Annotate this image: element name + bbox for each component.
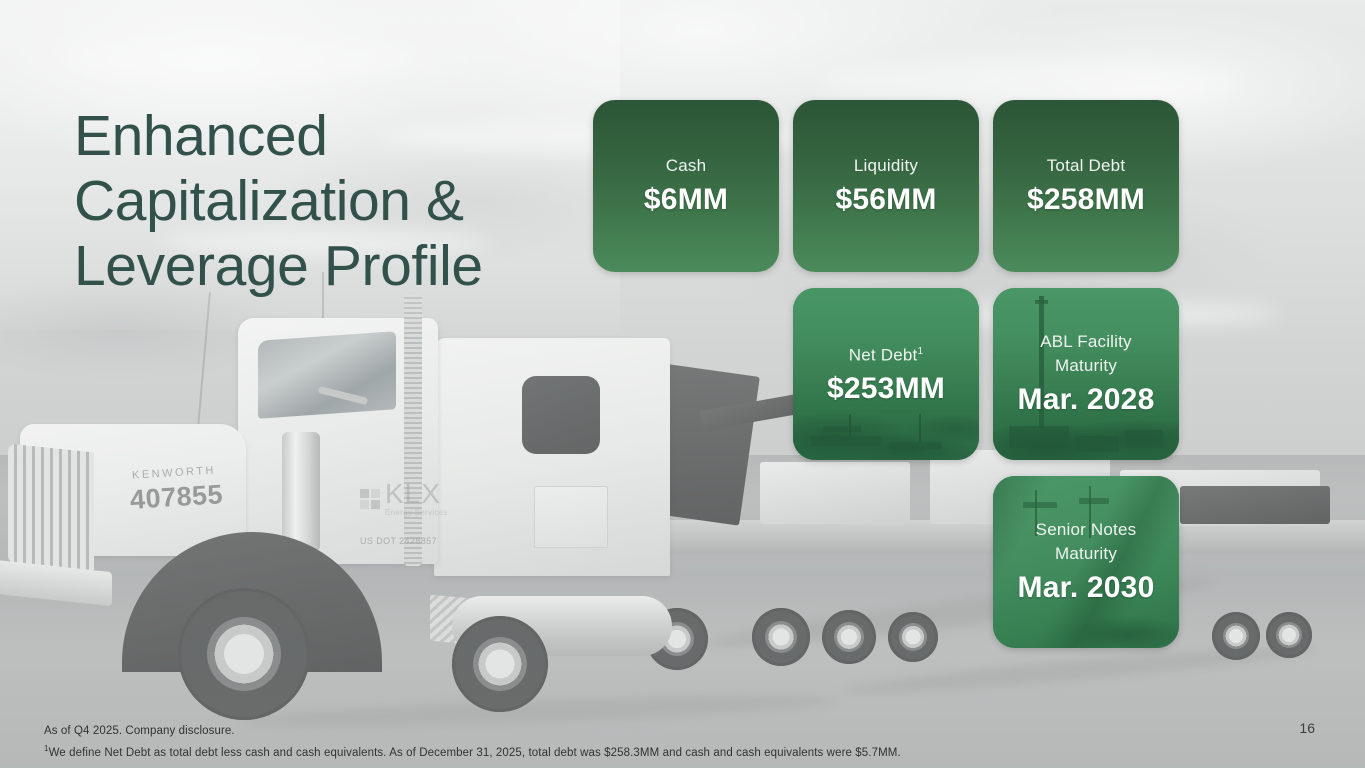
metric-value-cash: $6MM (644, 181, 728, 219)
trailer-equipment (1180, 486, 1330, 524)
metric-value-total-debt: $258MM (1027, 181, 1145, 219)
truck-rear-wheel (452, 616, 548, 712)
air-cleaner (282, 432, 320, 552)
metric-label-abl-facility: ABL Facility Maturity (1040, 330, 1132, 378)
cloud-streak (60, 40, 420, 80)
metric-value-abl-facility: Mar. 2028 (1018, 381, 1155, 419)
metric-card-total-debt[interactable]: Total Debt $258MM (993, 100, 1179, 272)
metric-card-liquidity[interactable]: Liquidity $56MM (793, 100, 979, 272)
metric-label-total-debt: Total Debt (1047, 154, 1126, 178)
metric-label-senior-notes: Senior Notes Maturity (1036, 518, 1137, 566)
slide-canvas: KENWORTH 407855 KLX Energy Services US D… (0, 0, 1365, 768)
title-line-3: Leverage Profile (74, 234, 594, 299)
metric-card-senior-notes[interactable]: Senior Notes Maturity Mar. 2030 (993, 476, 1179, 648)
footnote-definition: 1We define Net Debt as total debt less c… (44, 740, 1044, 762)
klx-tagline: Energy Services (385, 508, 448, 517)
page-number: 16 (1299, 720, 1315, 736)
metric-card-net-debt[interactable]: Net Debt1 $253MM (793, 288, 979, 460)
klx-wordmark: KLX (385, 478, 441, 509)
metric-label-net-debt: Net Debt1 (849, 340, 923, 368)
metric-label-liquidity: Liquidity (854, 154, 918, 178)
klx-squares-icon (360, 489, 380, 509)
title-line-2: Capitalization & (74, 169, 594, 234)
truck-front-wheel (178, 588, 310, 720)
title-line-1: Enhanced (74, 104, 594, 169)
metric-value-senior-notes: Mar. 2030 (1018, 569, 1155, 607)
truck-bumper (0, 560, 112, 606)
truck-windshield (258, 331, 396, 419)
footnotes: As of Q4 2025. Company disclosure. 1We d… (44, 722, 1044, 762)
klx-logo: KLX Energy Services (360, 480, 448, 517)
metric-card-grid: Cash $6MM Liquidity $56MM Total Debt $25… (593, 100, 1179, 655)
exhaust-stack (404, 294, 422, 566)
page-title: Enhanced Capitalization & Leverage Profi… (74, 104, 594, 299)
metric-card-abl-facility[interactable]: ABL Facility Maturity Mar. 2028 (993, 288, 1179, 460)
sleeper-window (522, 376, 600, 454)
trailer-wheel (1266, 612, 1312, 658)
footnote-marker: 1 (917, 346, 923, 357)
metric-label-cash: Cash (666, 154, 707, 178)
truck-hood-number: 407855 (129, 479, 224, 516)
truck-usdot-number: US DOT 2428857 (360, 536, 437, 546)
metric-value-net-debt: $253MM (827, 370, 945, 408)
metric-value-liquidity: $56MM (835, 181, 936, 219)
footnote-source: As of Q4 2025. Company disclosure. (44, 722, 1044, 740)
trailer-wheel (1212, 612, 1260, 660)
truck-grille (8, 443, 94, 572)
metric-card-cash[interactable]: Cash $6MM (593, 100, 779, 272)
